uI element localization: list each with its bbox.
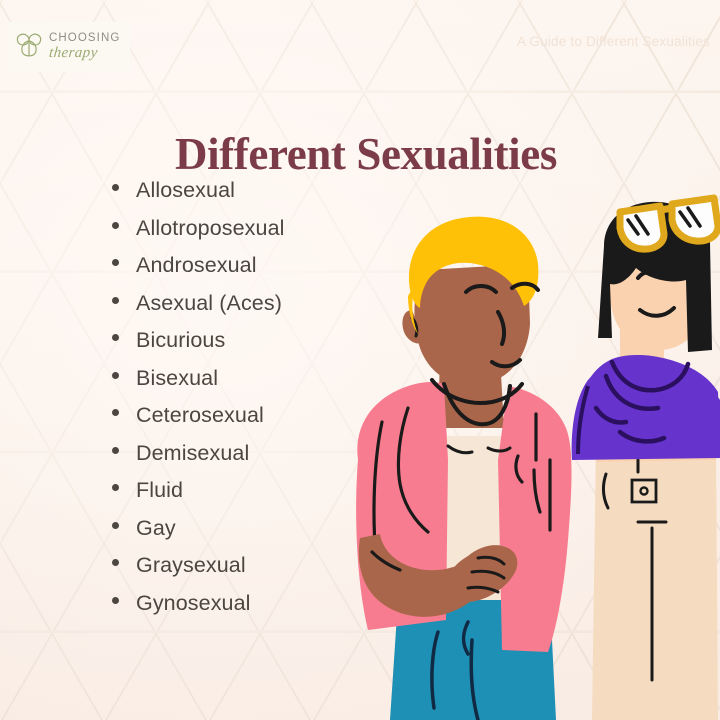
corner-caption: A Guide to Different Sexualities — [517, 34, 710, 49]
bullet-icon — [112, 372, 119, 379]
figure-right — [572, 198, 720, 720]
list-item: Allotroposexual — [112, 216, 285, 254]
list-item-label: Graysexual — [136, 553, 246, 578]
list-item-label: Gay — [136, 516, 176, 541]
list-item: Ceterosexual — [112, 403, 285, 441]
list-item-label: Asexual (Aces) — [136, 291, 282, 316]
brand-logo-wordmark: CHOOSING therapy — [49, 33, 120, 61]
list-item-label: Fluid — [136, 478, 183, 503]
bullet-icon — [112, 522, 119, 529]
sexualities-list: Allosexual Allotroposexual Androsexual A… — [112, 178, 285, 628]
list-item-label: Bicurious — [136, 328, 225, 353]
brand-name-bottom: therapy — [48, 46, 121, 61]
brand-name-top: CHOOSING — [49, 33, 120, 45]
list-item: Bicurious — [112, 328, 285, 366]
list-item: Asexual (Aces) — [112, 291, 285, 329]
list-item-label: Ceterosexual — [136, 403, 264, 428]
list-item: Demisexual — [112, 441, 285, 479]
bullet-icon — [112, 184, 119, 191]
list-item-label: Demisexual — [136, 441, 249, 466]
brand-logo[interactable]: CHOOSING therapy — [8, 22, 130, 72]
list-item: Fluid — [112, 478, 285, 516]
list-item-label: Allotroposexual — [136, 216, 285, 241]
figure-left — [356, 217, 571, 720]
list-item-label: Gynosexual — [136, 591, 251, 616]
list-item-label: Bisexual — [136, 366, 218, 391]
bullet-icon — [112, 259, 119, 266]
bullet-icon — [112, 334, 119, 341]
bullet-icon — [112, 484, 119, 491]
list-item: Gay — [112, 516, 285, 554]
leaf-logo-icon — [14, 31, 44, 63]
bullet-icon — [112, 409, 119, 416]
list-item: Graysexual — [112, 553, 285, 591]
list-item: Androsexual — [112, 253, 285, 291]
list-item: Gynosexual — [112, 591, 285, 629]
bullet-icon — [112, 222, 119, 229]
bullet-icon — [112, 597, 119, 604]
infographic-canvas: CHOOSING therapy A Guide to Different Se… — [0, 0, 720, 720]
list-item: Allosexual — [112, 178, 285, 216]
bullet-icon — [112, 297, 119, 304]
bullet-icon — [112, 559, 119, 566]
list-item-label: Allosexual — [136, 178, 235, 203]
bullet-icon — [112, 447, 119, 454]
list-item: Bisexual — [112, 366, 285, 404]
two-people-couple-illustration — [320, 160, 720, 720]
list-item-label: Androsexual — [136, 253, 257, 278]
